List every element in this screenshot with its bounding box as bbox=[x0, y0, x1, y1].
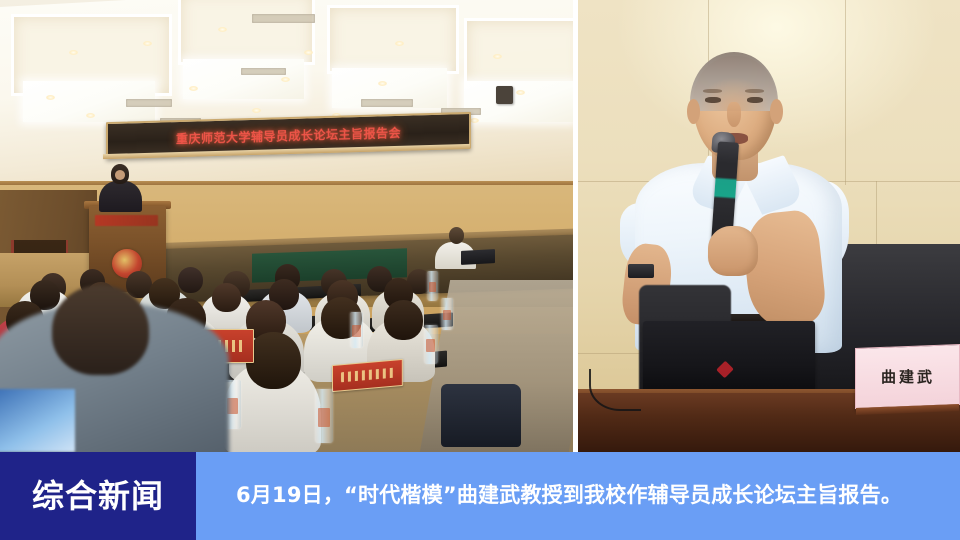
ear-right bbox=[770, 99, 783, 123]
nameplate: 曲建武 bbox=[855, 344, 960, 409]
category-label: 综合新闻 bbox=[32, 480, 164, 512]
audience-head bbox=[246, 332, 300, 389]
wrist-watch bbox=[628, 264, 655, 278]
floor-bag bbox=[441, 384, 521, 447]
nameplate-text: 曲建武 bbox=[880, 366, 934, 387]
hall-scene: 重庆师范大学辅导员成长论坛主旨报告会 bbox=[0, 0, 573, 452]
audience-head bbox=[384, 300, 423, 340]
eyebrow-left bbox=[703, 89, 722, 94]
caption-banner: 综合新闻 6月19日，“时代楷模”曲建武教授到我校作辅导员成长论坛主旨报告。 bbox=[0, 452, 960, 540]
water-bottle bbox=[424, 325, 438, 363]
foreground-person-head bbox=[52, 285, 149, 375]
marble-seam bbox=[845, 0, 846, 185]
water-bottle bbox=[315, 389, 333, 443]
laptop-logo bbox=[717, 360, 735, 378]
eye-right bbox=[747, 97, 763, 103]
photo-strip: 重庆师范大学辅导员成长论坛主旨报告会 bbox=[0, 0, 960, 452]
news-card: 重庆师范大学辅导员成长论坛主旨报告会 bbox=[0, 0, 960, 540]
eye-left bbox=[705, 97, 721, 103]
marble-wall: 曲建武 bbox=[578, 0, 960, 452]
water-bottle bbox=[441, 298, 453, 330]
eyebrow-right bbox=[745, 89, 764, 94]
category-block[interactable]: 综合新闻 bbox=[0, 452, 196, 540]
seat-placard bbox=[332, 358, 403, 391]
water-bottle bbox=[427, 271, 438, 300]
hand-holding-microphone bbox=[708, 226, 758, 276]
water-bottle bbox=[350, 312, 364, 348]
speaker-portrait-photo: 曲建武 bbox=[578, 0, 960, 452]
caption-text-wrap: 6月19日，“时代楷模”曲建武教授到我校作辅导员成长论坛主旨报告。 bbox=[196, 452, 960, 540]
conference-hall-photo: 重庆师范大学辅导员成长论坛主旨报告会 bbox=[0, 0, 573, 452]
audience-head bbox=[178, 267, 203, 293]
audience-head bbox=[212, 283, 241, 312]
foreground-laptop bbox=[0, 389, 75, 452]
caption-text: 6月19日，“时代楷模”曲建武教授到我校作辅导员成长论坛主旨报告。 bbox=[236, 483, 902, 508]
laptop bbox=[643, 321, 815, 393]
nose bbox=[727, 102, 741, 126]
